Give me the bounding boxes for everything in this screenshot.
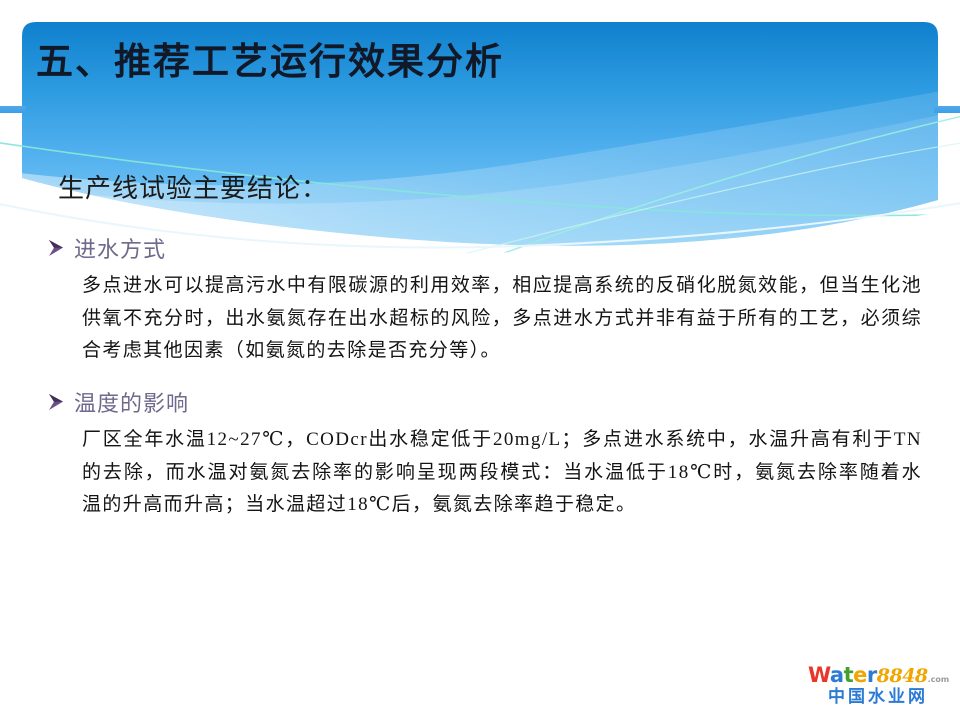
header-edge-bar-right bbox=[934, 106, 960, 113]
logo-letter-t: t bbox=[844, 663, 854, 687]
watermark-logo: Water8848.com 中国水业网 bbox=[808, 665, 948, 706]
section-heading: 进水方式 bbox=[74, 236, 166, 264]
section-header: 进水方式 bbox=[48, 236, 928, 264]
watermark-wordmark: Water8848.com bbox=[808, 665, 948, 686]
section-heading: 温度的影响 bbox=[74, 390, 189, 418]
slide-canvas: 五、推荐工艺运行效果分析 生产线试验主要结论： 进水方式 多点进水可以提高污水中… bbox=[0, 0, 960, 720]
logo-number: 8848 bbox=[877, 665, 928, 687]
watermark-subtitle: 中国水业网 bbox=[808, 689, 948, 706]
logo-letter-r: r bbox=[867, 663, 877, 687]
content-body: 进水方式 多点进水可以提高污水中有限碳源的利用效率，相应提高系统的反硝化脱氮效能… bbox=[48, 236, 928, 522]
arrow-head-bullet-icon bbox=[48, 238, 65, 264]
section-header: 温度的影响 bbox=[48, 390, 928, 418]
section-paragraph: 厂区全年水温12~27℃，CODcr出水稳定低于20mg/L；多点进水系统中，水… bbox=[82, 424, 922, 522]
arrow-head-bullet-icon bbox=[48, 392, 65, 418]
logo-tld: .com bbox=[928, 675, 950, 684]
section-inflow-mode: 进水方式 多点进水可以提高污水中有限碳源的利用效率，相应提高系统的反硝化脱氮效能… bbox=[48, 236, 928, 368]
page-title: 五、推荐工艺运行效果分析 bbox=[36, 42, 796, 85]
section-paragraph: 多点进水可以提高污水中有限碳源的利用效率，相应提高系统的反硝化脱氮效能，但当生化… bbox=[82, 270, 922, 368]
section-temperature-effect: 温度的影响 厂区全年水温12~27℃，CODcr出水稳定低于20mg/L；多点进… bbox=[48, 390, 928, 522]
header-edge-bar-left bbox=[0, 106, 26, 113]
logo-letter-w: W bbox=[808, 663, 830, 687]
logo-letter-a: a bbox=[830, 663, 844, 687]
logo-letter-e: e bbox=[853, 663, 867, 687]
lead-in-text: 生产线试验主要结论： bbox=[58, 168, 328, 205]
